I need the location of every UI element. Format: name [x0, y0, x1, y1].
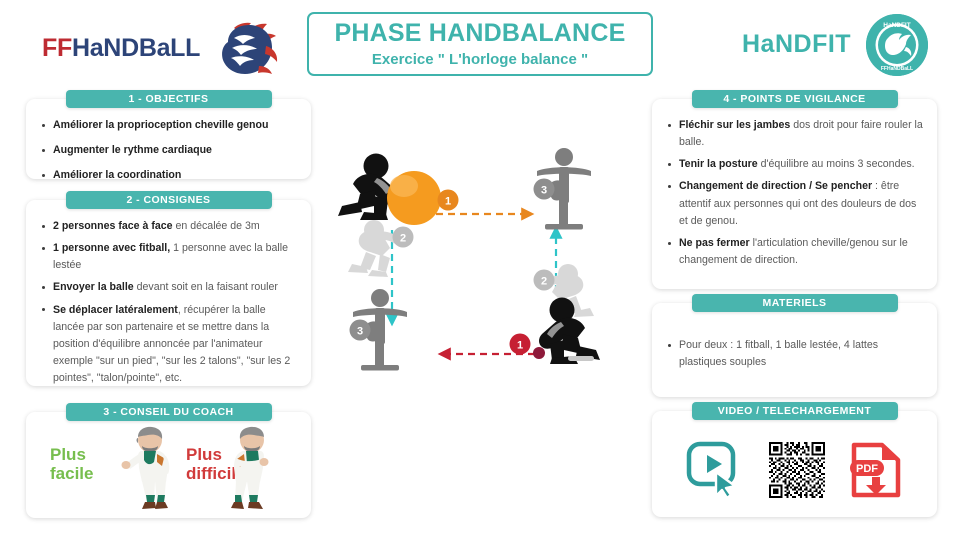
exercise-title-box: PHASE HANDBALANCE Exercice " L'horloge b…: [307, 12, 653, 76]
coach-easier-label-line2: facile: [50, 464, 93, 483]
badge-1-bottom-right: 1: [510, 334, 531, 355]
card-consignes-header: 2 - CONSIGNES: [66, 191, 272, 209]
rooster-icon: [204, 22, 280, 78]
pdf-label: PDF: [856, 463, 878, 475]
handfit-logo: HaNDFIT HaNDFIT FFHaNDBaLL: [742, 14, 942, 76]
svg-text:1: 1: [445, 196, 451, 208]
handfit-badge-icon: HaNDFIT FFHaNDBaLL: [866, 14, 928, 76]
coach-easier-label-line1: Plus: [50, 445, 93, 464]
list-item: Augmenter le rythme cardiaque: [40, 142, 297, 159]
page-title: PHASE HANDBALANCE: [335, 20, 626, 46]
list-item-bold: Se déplacer latéralement: [53, 304, 178, 316]
list-item-bold: Envoyer la balle: [53, 281, 134, 293]
list-item: Changement de direction / Se pencher : ê…: [666, 178, 923, 229]
coach-easier-label: Plus facile: [50, 445, 93, 483]
list-item-bold: Fléchir sur les jambes: [679, 119, 790, 131]
list-item-bold: 2 personnes face à face: [53, 220, 173, 232]
list-item-bold: Augmenter le rythme cardiaque: [53, 144, 212, 156]
objectifs-list: Améliorer la proprioception cheville gen…: [40, 117, 297, 184]
svg-text:3: 3: [357, 326, 363, 338]
fitball-highlight: [390, 175, 418, 197]
player-ghost-top-left: [348, 220, 402, 277]
card-points-de-vigilance: 4 - POINTS DE VIGILANCE Fléchir sur les …: [652, 99, 937, 289]
handfit-wordmark: HaNDFIT: [742, 30, 851, 59]
list-item-bold: Tenir la posture: [679, 158, 758, 170]
player-shadow-bar: [568, 356, 594, 361]
list-item: Ne pas fermer l'articulation cheville/ge…: [666, 235, 923, 269]
list-item-bold: Améliorer la proprioception cheville gen…: [53, 119, 268, 131]
vigilance-list: Fléchir sur les jambes dos droit pour fa…: [666, 117, 923, 269]
card-objectifs: 1 - OBJECTIFS Améliorer la proprioceptio…: [26, 99, 311, 179]
badge-3-bottom-left: 3: [350, 320, 371, 341]
ffhandball-wordmark-handball: HaNDBaLL: [72, 34, 200, 62]
svg-text:1: 1: [517, 340, 523, 352]
ffhandball-wordmark: FFHaNDBaLL: [42, 34, 200, 63]
card-materiels-header: MATERIELS: [692, 294, 898, 312]
poster-header: FFHaNDBaLL PHASE HANDBALANCE Exercice " …: [0, 0, 960, 88]
list-item-rest: d'équilibre au moins 3 secondes.: [758, 158, 915, 170]
card-video-header: VIDEO / TELECHARGEMENT: [692, 402, 898, 420]
list-item: Envoyer la balle devant soit en la faisa…: [40, 279, 297, 296]
consignes-list: 2 personnes face à face en décalée de 3m…: [40, 218, 297, 387]
badge-3-top-right: 3: [534, 179, 555, 200]
list-item: 2 personnes face à face en décalée de 3m: [40, 218, 297, 235]
list-item-bold: Améliorer la coordination: [53, 169, 181, 181]
coach-avatar-harder-icon: [222, 426, 288, 514]
list-item-bold: Ne pas fermer: [679, 237, 750, 249]
pdf-download-icon[interactable]: PDF: [848, 439, 904, 501]
poster-page: FFHaNDBaLL PHASE HANDBALANCE Exercice " …: [0, 0, 960, 540]
list-item: Fléchir sur les jambes dos droit pour fa…: [666, 117, 923, 151]
svg-text:HaNDFIT: HaNDFIT: [883, 22, 910, 29]
svg-text:2: 2: [541, 276, 547, 288]
list-item-rest: devant soit en la faisant rouler: [134, 281, 278, 293]
materiels-list: Pour deux : 1 fitball, 1 balle lestée, 4…: [666, 337, 923, 371]
card-objectifs-header: 1 - OBJECTIFS: [66, 90, 272, 108]
ffhandball-wordmark-ff: FF: [42, 34, 72, 62]
badge-ghost-2-top-left: 2: [393, 227, 414, 248]
list-item: Améliorer la proprioception cheville gen…: [40, 117, 297, 134]
list-item: Tenir la posture d'équilibre au moins 3 …: [666, 156, 923, 173]
list-item: Se déplacer latéralement, récupérer la b…: [40, 302, 297, 388]
list-item: Améliorer la coordination: [40, 167, 297, 184]
weighted-ball: [533, 347, 545, 359]
play-video-icon[interactable]: [685, 441, 747, 499]
ffhandball-logo: FFHaNDBaLL: [42, 20, 282, 78]
list-item-rest: en décalée de 3m: [173, 220, 260, 232]
page-subtitle: Exercice " L'horloge balance ": [372, 51, 588, 68]
card-consignes: 2 - CONSIGNES 2 personnes face à face en…: [26, 200, 311, 386]
qr-code-icon[interactable]: [769, 442, 825, 498]
svg-text:2: 2: [400, 233, 406, 245]
svg-text:3: 3: [541, 185, 547, 197]
list-item: Pour deux : 1 fitball, 1 balle lestée, 4…: [666, 337, 923, 371]
list-item-rest: Pour deux : 1 fitball, 1 balle lestée, 4…: [679, 339, 878, 368]
card-conseil-du-coach: 3 - CONSEIL DU COACH Plus facile Plus di…: [26, 412, 311, 518]
horloge-balance-exercise-diagram: 2 1 3: [330, 140, 640, 400]
list-item-bold: 1 personne avec fitball,: [53, 242, 170, 254]
list-item-bold: Changement de direction / Se pencher: [679, 180, 872, 192]
card-materiels: MATERIELS Pour deux : 1 fitball, 1 balle…: [652, 303, 937, 397]
player-weighted-ball-bottom-right: [539, 298, 600, 365]
badge-ghost-2-bottom-right: 2: [534, 270, 555, 291]
badge-1-top-left: 1: [438, 190, 459, 211]
coach-avatar-easier-icon: [114, 426, 180, 514]
card-vigilance-header: 4 - POINTS DE VIGILANCE: [692, 90, 898, 108]
list-item: 1 personne avec fitball, 1 personne avec…: [40, 240, 297, 274]
card-video-telechargement: VIDEO / TELECHARGEMENT: [652, 411, 937, 517]
svg-text:FFHaNDBaLL: FFHaNDBaLL: [881, 66, 913, 72]
